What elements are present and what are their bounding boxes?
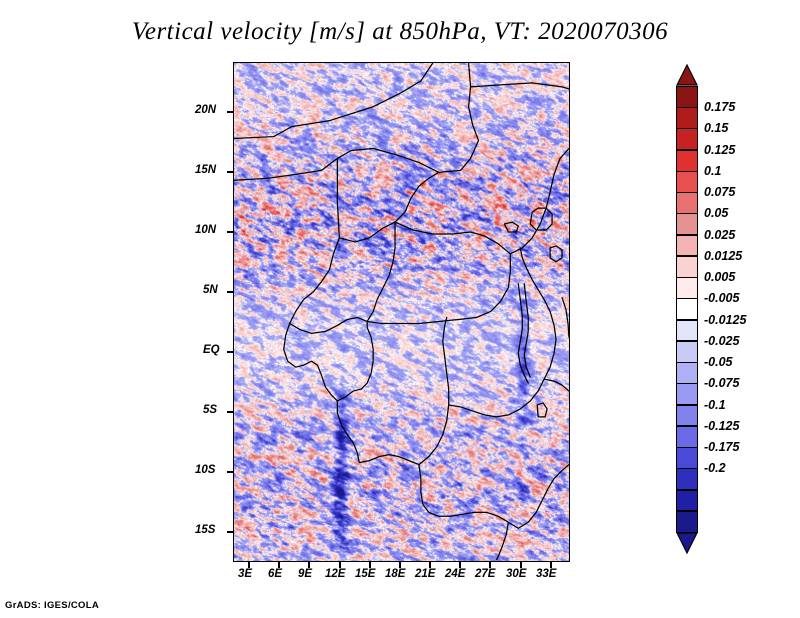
y-tick (227, 111, 233, 113)
map-plot-frame (233, 62, 570, 562)
colorbar-tick-label: -0.125 (704, 419, 739, 433)
y-axis-label-10S: 10S (195, 464, 215, 476)
colorbar-swatch (676, 362, 698, 384)
colorbar-tick-label: -0.075 (704, 376, 739, 390)
x-axis-label-15E: 15E (355, 568, 375, 580)
y-axis-label-5N: 5N (203, 284, 218, 296)
y-axis-label-15N: 15N (195, 164, 216, 176)
colorbar-swatch (676, 468, 698, 490)
colorbar-swatch (676, 256, 698, 278)
colorbar-swatch (676, 192, 698, 214)
y-tick (227, 411, 233, 413)
colorbar-tick-label: 0.1 (704, 164, 721, 178)
x-axis-label-30E: 30E (506, 568, 526, 580)
colorbar: 0.1750.150.1250.10.0750.050.0250.01250.0… (676, 64, 698, 554)
colorbar-swatch (676, 107, 698, 129)
y-axis-label-20N: 20N (195, 104, 216, 116)
y-axis-label-10N: 10N (195, 224, 216, 236)
y-tick (227, 291, 233, 293)
colorbar-tick-label: 0.175 (704, 100, 735, 114)
x-axis-label-9E: 9E (298, 568, 312, 580)
x-axis-label-6E: 6E (268, 568, 282, 580)
country-borders-overlay (234, 63, 569, 560)
x-axis-label-27E: 27E (475, 568, 495, 580)
colorbar-swatch (676, 150, 698, 172)
x-axis-label-33E: 33E (536, 568, 556, 580)
colorbar-tick-label: -0.175 (704, 440, 739, 454)
y-tick (227, 531, 233, 533)
colorbar-swatch (676, 171, 698, 193)
x-axis-label-18E: 18E (385, 568, 405, 580)
colorbar-swatch (676, 213, 698, 235)
colorbar-swatch (676, 405, 698, 427)
colorbar-swatch (676, 447, 698, 469)
colorbar-swatch (676, 320, 698, 342)
colorbar-tick-label: -0.1 (704, 398, 726, 412)
colorbar-swatch (676, 341, 698, 363)
colorbar-tick-label: 0.15 (704, 121, 728, 135)
colorbar-tick-label: 0.025 (704, 228, 735, 242)
x-axis-label-21E: 21E (415, 568, 435, 580)
colorbar-max-arrow (676, 64, 698, 86)
colorbar-swatch (676, 426, 698, 448)
colorbar-swatch (676, 235, 698, 257)
page-title: Vertical velocity [m/s] at 850hPa, VT: 2… (0, 18, 800, 46)
y-tick (227, 471, 233, 473)
colorbar-swatch (676, 86, 698, 108)
colorbar-swatch (676, 511, 698, 533)
colorbar-tick-label: -0.2 (704, 461, 726, 475)
colorbar-tick-label: -0.05 (704, 355, 733, 369)
y-tick (227, 231, 233, 233)
colorbar-tick-label: 0.075 (704, 185, 735, 199)
colorbar-swatch (676, 490, 698, 512)
y-axis-label-5S: 5S (203, 404, 217, 416)
colorbar-swatch (676, 383, 698, 405)
y-axis-label-EQ: EQ (203, 344, 220, 356)
x-axis-label-12E: 12E (325, 568, 345, 580)
colorbar-tick-label: -0.025 (704, 334, 739, 348)
colorbar-tick-label: 0.0125 (704, 249, 742, 263)
colorbar-tick-label: 0.05 (704, 206, 728, 220)
colorbar-tick-label: 0.125 (704, 143, 735, 157)
colorbar-swatch (676, 128, 698, 150)
map-panel: 20N 15N 10N 5N EQ 5S 10S 15S 3E 6E 9E 12… (233, 62, 570, 562)
y-axis-label-15S: 15S (195, 524, 215, 536)
colorbar-tick-label: -0.0125 (704, 313, 746, 327)
y-tick (227, 351, 233, 353)
colorbar-swatch (676, 298, 698, 320)
grads-attribution: GrADS: IGES/COLA (5, 600, 99, 611)
colorbar-swatch (676, 277, 698, 299)
y-tick (227, 171, 233, 173)
x-axis-label-3E: 3E (238, 568, 252, 580)
x-axis-label-24E: 24E (445, 568, 465, 580)
colorbar-tick-label: 0.005 (704, 270, 735, 284)
colorbar-min-arrow (676, 532, 698, 554)
colorbar-tick-label: -0.005 (704, 291, 739, 305)
